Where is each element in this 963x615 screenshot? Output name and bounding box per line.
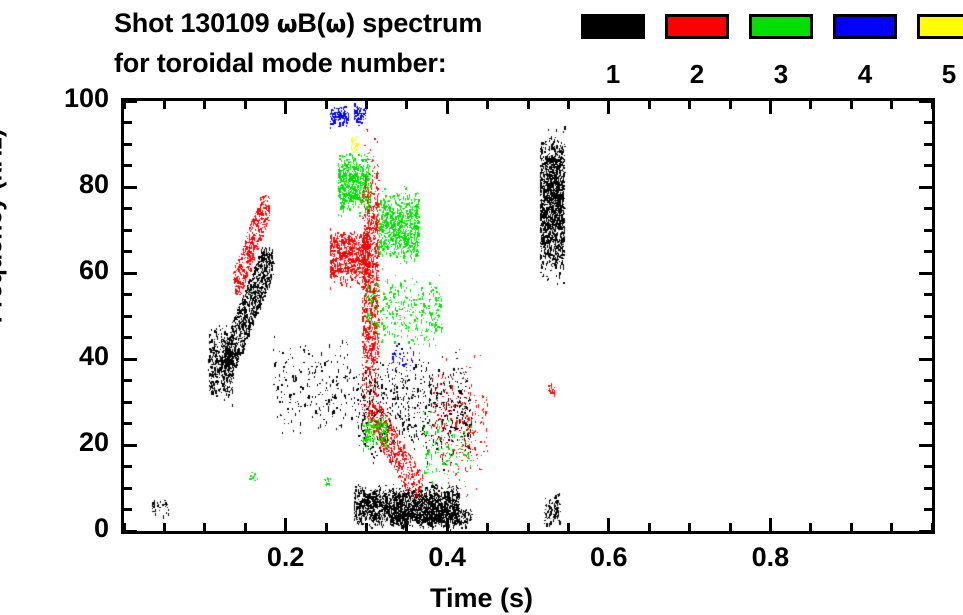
y-tick-right-60: [919, 272, 932, 275]
y-tick-right-45: [924, 336, 932, 339]
y-tick-right-5: [924, 508, 932, 511]
x-tick-label-0.8: 0.8: [725, 542, 815, 573]
spectrogram-canvas: [124, 101, 932, 531]
plot-area: [121, 98, 935, 534]
x-tick-label-0.6: 0.6: [564, 542, 654, 573]
x-tick-top-1: [931, 101, 934, 109]
x-tick-top-0: [123, 101, 126, 109]
legend-swatch-mode-1: [581, 14, 645, 39]
legend-swatch-mode-2: [665, 14, 729, 39]
y-tick-label-0: 0: [94, 513, 109, 544]
x-tick-0.2: [284, 518, 287, 531]
y-tick-35: [124, 379, 132, 382]
x-tick-top-0.2: [284, 101, 287, 114]
x-tick-0.25: [325, 523, 328, 531]
x-tick-top-0.85: [809, 101, 812, 109]
y-tick-75: [124, 207, 132, 210]
x-tick-top-0.5: [527, 101, 530, 109]
figure-title-line-1: Shot 130109 ωB(ω) spectrum: [114, 8, 482, 39]
title-b-text: B(: [297, 8, 325, 38]
title-spectrum-text: ) spectrum: [346, 8, 482, 38]
x-tick-0.95: [890, 523, 893, 531]
x-tick-0.9: [850, 523, 853, 531]
x-tick-0.35: [405, 523, 408, 531]
x-tick-0.15: [244, 523, 247, 531]
y-tick-label-80: 80: [79, 169, 109, 200]
y-tick-60: [124, 272, 137, 275]
y-tick-30: [124, 401, 132, 404]
x-tick-0.6: [607, 518, 610, 531]
y-tick-right-35: [924, 379, 932, 382]
x-tick-top-0.05: [163, 101, 166, 109]
y-tick-25: [124, 422, 132, 425]
y-tick-15: [124, 465, 132, 468]
y-tick-right-55: [924, 293, 932, 296]
y-tick-right-30: [924, 401, 932, 404]
y-tick-70: [124, 229, 132, 232]
y-tick-right-10: [924, 487, 932, 490]
omega-symbol-2: ω: [325, 10, 346, 38]
y-tick-right-95: [924, 121, 932, 124]
y-tick-label-20: 20: [79, 427, 109, 458]
x-tick-0.65: [648, 523, 651, 531]
legend-swatch-mode-4: [833, 14, 897, 39]
y-tick-label-60: 60: [79, 255, 109, 286]
y-tick-0: [124, 530, 137, 533]
x-tick-0.7: [688, 523, 691, 531]
x-tick-top-0.7: [688, 101, 691, 109]
y-tick-85: [124, 164, 132, 167]
y-tick-10: [124, 487, 132, 490]
x-tick-0.4: [446, 518, 449, 531]
y-axis-title: Frequency (kHz): [0, 129, 9, 323]
y-tick-right-25: [924, 422, 932, 425]
y-tick-right-65: [924, 250, 932, 253]
omega-symbol-1: ω: [277, 10, 298, 38]
x-tick-0.45: [486, 523, 489, 531]
y-tick-100: [124, 100, 137, 103]
y-tick-55: [124, 293, 132, 296]
y-tick-right-15: [924, 465, 932, 468]
y-tick-right-85: [924, 164, 932, 167]
x-tick-0.1: [203, 523, 206, 531]
x-tick-top-0.4: [446, 101, 449, 114]
legend-label-mode-4: 4: [833, 59, 897, 90]
spectrogram-figure: Shot 130109 ωB(ω) spectrum for toroidal …: [0, 0, 963, 615]
y-tick-right-50: [924, 315, 932, 318]
y-tick-40: [124, 358, 137, 361]
y-tick-80: [124, 186, 137, 189]
y-tick-45: [124, 336, 132, 339]
x-tick-0.55: [567, 523, 570, 531]
x-axis-title: Time (s): [0, 583, 963, 614]
x-tick-0.3: [365, 523, 368, 531]
x-tick-0.05: [163, 523, 166, 531]
x-tick-top-0.55: [567, 101, 570, 109]
legend-label-mode-1: 1: [581, 59, 645, 90]
y-tick-label-40: 40: [79, 341, 109, 372]
legend-label-mode-3: 3: [749, 59, 813, 90]
x-tick-top-0.35: [405, 101, 408, 109]
x-tick-top-0.1: [203, 101, 206, 109]
x-tick-0: [123, 523, 126, 531]
x-tick-top-0.95: [890, 101, 893, 109]
x-tick-top-0.15: [244, 101, 247, 109]
x-tick-top-0.3: [365, 101, 368, 109]
y-tick-label-100: 100: [64, 83, 109, 114]
x-tick-0.75: [729, 523, 732, 531]
y-tick-20: [124, 444, 137, 447]
legend-swatch-mode-3: [749, 14, 813, 39]
y-tick-50: [124, 315, 132, 318]
legend-swatch-mode-5: [917, 14, 963, 39]
y-tick-95: [124, 121, 132, 124]
y-tick-5: [124, 508, 132, 511]
legend-label-mode-5: 5: [917, 59, 963, 90]
y-tick-right-90: [924, 143, 932, 146]
x-tick-0.85: [809, 523, 812, 531]
x-tick-0.8: [769, 518, 772, 531]
legend-label-mode-2: 2: [665, 59, 729, 90]
y-tick-right-80: [919, 186, 932, 189]
x-tick-0.5: [527, 523, 530, 531]
x-tick-1: [931, 523, 934, 531]
x-tick-top-0.9: [850, 101, 853, 109]
x-tick-top-0.8: [769, 101, 772, 114]
x-tick-top-0.6: [607, 101, 610, 114]
x-tick-top-0.45: [486, 101, 489, 109]
figure-title-line-2: for toroidal mode number:: [114, 48, 447, 79]
x-tick-top-0.75: [729, 101, 732, 109]
y-tick-right-70: [924, 229, 932, 232]
y-tick-65: [124, 250, 132, 253]
x-tick-label-0.4: 0.4: [402, 542, 492, 573]
x-tick-top-0.65: [648, 101, 651, 109]
x-tick-label-0.2: 0.2: [241, 542, 331, 573]
title-shot-text: Shot 130109: [114, 8, 277, 38]
y-tick-90: [124, 143, 132, 146]
y-tick-right-75: [924, 207, 932, 210]
y-tick-right-40: [919, 358, 932, 361]
x-tick-top-0.25: [325, 101, 328, 109]
y-tick-right-20: [919, 444, 932, 447]
